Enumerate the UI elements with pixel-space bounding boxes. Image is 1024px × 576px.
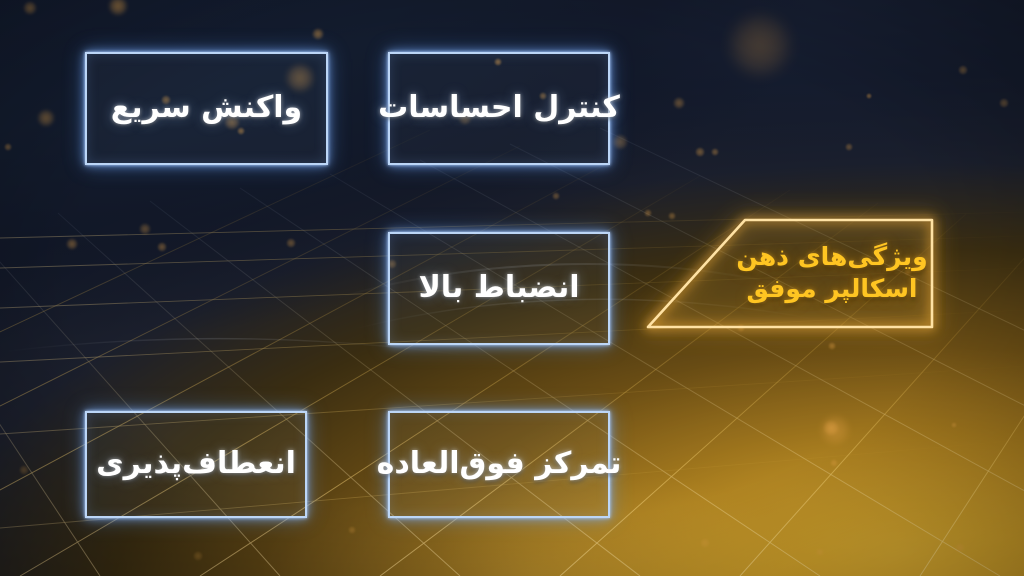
trait-label-emotion-control: کنترل احساسات [378,91,620,126]
title-line-2: اسکالپر موفق [747,273,918,305]
trait-box-high-discipline[interactable]: انضباط بالا [388,232,610,345]
trait-label-flexibility: انعطاف‌پذیری [96,447,296,482]
slide-canvas: واکنش سریعکنترل احساساتانضباط بالاانعطاف… [0,0,1024,576]
title-line-1: ویژگی‌های ذهن [736,241,927,273]
title-card: ویژگی‌های ذهن اسکالپر موفق [640,200,950,345]
trait-box-quick-reaction[interactable]: واکنش سریع [85,52,328,165]
trait-box-flexibility[interactable]: انعطاف‌پذیری [85,411,307,518]
trait-label-high-discipline: انضباط بالا [418,271,579,306]
trait-label-extraordinary-focus: تمرکز فوق‌العاده [377,447,622,482]
title-text-block: ویژگی‌های ذهن اسکالپر موفق [732,236,932,310]
trait-box-extraordinary-focus[interactable]: تمرکز فوق‌العاده [388,411,610,518]
trait-box-emotion-control[interactable]: کنترل احساسات [388,52,610,165]
trait-label-quick-reaction: واکنش سریع [111,91,302,126]
